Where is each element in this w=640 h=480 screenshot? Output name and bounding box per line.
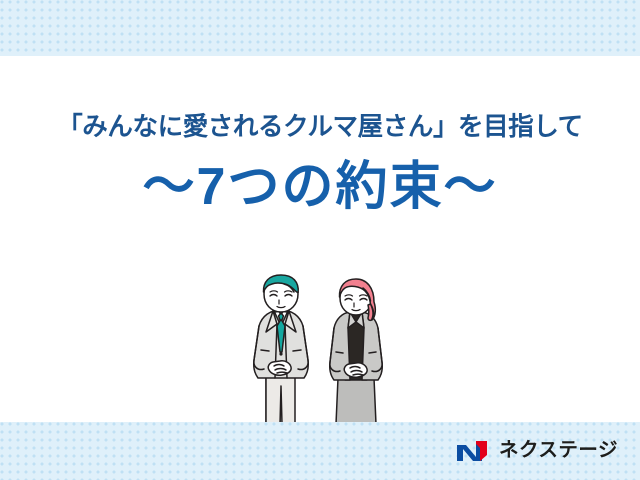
nextage-n-mark-icon: [456, 439, 490, 463]
headline-line-1: 「みんなに愛されるクルマ屋さん」を目指して: [0, 112, 640, 143]
nextage-logo: ネクステージ: [456, 436, 618, 466]
headline-block: 「みんなに愛されるクルマ屋さん」を目指して 〜7つの約束〜: [0, 112, 640, 216]
top-dot-band: [0, 0, 640, 56]
staff-illustration-svg: [236, 274, 416, 424]
headline-line-2: 〜7つの約束〜: [0, 159, 640, 216]
male-staff-figure: [254, 275, 309, 424]
two-staff-bowing-illustration: [236, 274, 416, 424]
promo-banner: 「みんなに愛されるクルマ屋さん」を目指して 〜7つの約束〜: [0, 0, 640, 480]
female-staff-figure: [330, 279, 383, 424]
nextage-wordmark: ネクステージ: [499, 441, 618, 461]
